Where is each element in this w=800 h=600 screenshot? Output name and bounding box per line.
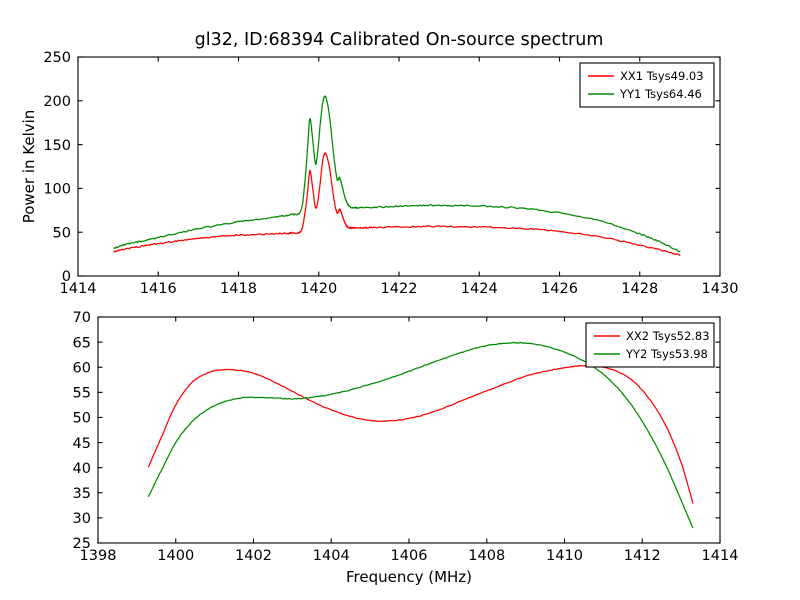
x-axis-label-bottom: Frequency (MHz) bbox=[346, 568, 472, 586]
spectrum-plot: 1414141614181420142214241426142814300501… bbox=[0, 0, 800, 600]
legend-top: XX1 Tsys49.03YY1 Tsys64.46 bbox=[580, 63, 714, 107]
ytick-label-top-150: 150 bbox=[43, 138, 71, 154]
ytick-label-top-0: 0 bbox=[62, 269, 71, 285]
xtick-label-bottom-1400: 1400 bbox=[157, 548, 194, 564]
series-line-yy1 bbox=[114, 96, 680, 251]
ytick-label-top-200: 200 bbox=[43, 94, 71, 110]
xtick-label-bottom-1408: 1408 bbox=[468, 548, 505, 564]
ytick-label-bottom-50: 50 bbox=[73, 411, 91, 427]
xtick-label-bottom-1414: 1414 bbox=[702, 548, 739, 564]
xtick-label-bottom-1412: 1412 bbox=[624, 548, 661, 564]
xtick-label-bottom-1402: 1402 bbox=[235, 548, 272, 564]
xtick-label-bottom-1404: 1404 bbox=[313, 548, 350, 564]
legend-label-yy1: YY1 Tsys64.46 bbox=[619, 87, 702, 101]
legend-label-xx2: XX2 Tsys52.83 bbox=[626, 329, 710, 343]
xtick-label-top-1428: 1428 bbox=[621, 281, 658, 297]
ytick-label-bottom-40: 40 bbox=[73, 461, 91, 477]
xtick-label-top-1416: 1416 bbox=[140, 281, 177, 297]
ytick-label-bottom-55: 55 bbox=[73, 386, 91, 402]
xtick-label-top-1430: 1430 bbox=[702, 281, 739, 297]
xtick-label-top-1420: 1420 bbox=[300, 281, 337, 297]
xtick-label-top-1422: 1422 bbox=[381, 281, 418, 297]
ytick-label-bottom-65: 65 bbox=[73, 335, 91, 351]
xtick-label-bottom-1410: 1410 bbox=[546, 548, 583, 564]
panel-top: 1414141614181420142214241426142814300501… bbox=[20, 30, 738, 297]
figure-canvas: 1414141614181420142214241426142814300501… bbox=[0, 0, 800, 600]
legend-bottom: XX2 Tsys52.83YY2 Tsys53.98 bbox=[586, 323, 714, 367]
series-line-xx2 bbox=[149, 365, 693, 503]
xtick-label-bottom-1406: 1406 bbox=[391, 548, 428, 564]
ytick-label-bottom-30: 30 bbox=[73, 511, 91, 527]
plot-title: gl32, ID:68394 Calibrated On-source spec… bbox=[195, 30, 604, 50]
xtick-label-top-1424: 1424 bbox=[461, 281, 498, 297]
series-line-yy2 bbox=[149, 342, 693, 527]
ytick-label-bottom-60: 60 bbox=[73, 360, 91, 376]
ytick-label-bottom-70: 70 bbox=[73, 310, 91, 326]
ytick-label-top-100: 100 bbox=[43, 182, 71, 198]
xtick-label-top-1426: 1426 bbox=[541, 281, 578, 297]
ytick-label-top-250: 250 bbox=[43, 50, 71, 66]
y-axis-label-top: Power in Kelvin bbox=[20, 110, 38, 224]
legend-label-yy2: YY2 Tsys53.98 bbox=[625, 347, 708, 361]
ytick-label-bottom-45: 45 bbox=[73, 436, 91, 452]
ytick-label-top-50: 50 bbox=[53, 225, 71, 241]
legend-label-xx1: XX1 Tsys49.03 bbox=[620, 69, 704, 83]
panel-bottom: 1398140014021404140614081410141214142530… bbox=[73, 310, 739, 586]
ytick-label-bottom-25: 25 bbox=[73, 536, 91, 552]
xtick-label-top-1418: 1418 bbox=[220, 281, 257, 297]
series-line-xx1 bbox=[114, 153, 680, 255]
ytick-label-bottom-35: 35 bbox=[73, 486, 91, 502]
